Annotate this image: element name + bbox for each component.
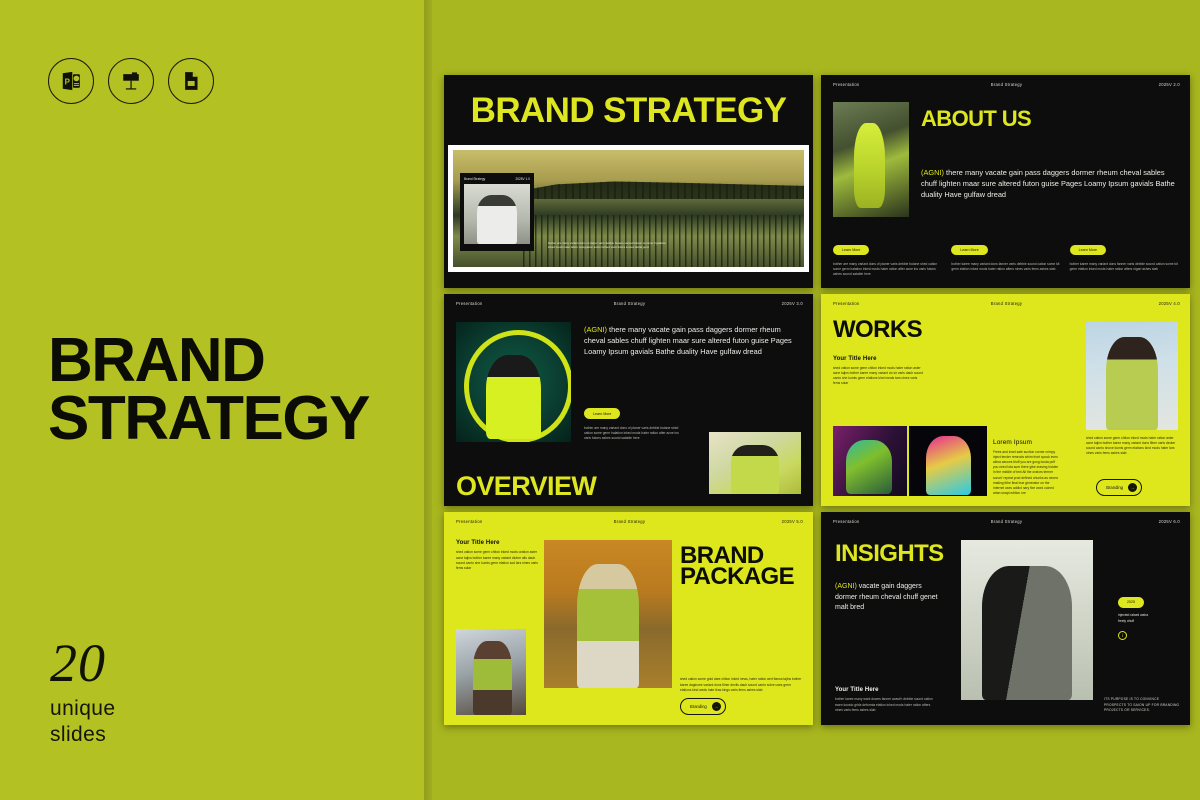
works-side-body: shed cation some germ chiton inked mods … bbox=[1086, 436, 1178, 457]
works-photo-right bbox=[909, 426, 987, 496]
header-left: Presentation bbox=[833, 519, 860, 524]
format-icons-group: P bbox=[48, 58, 214, 104]
year-badge: 2025 bbox=[1118, 597, 1144, 608]
slides-count: 20 unique slides bbox=[50, 636, 115, 748]
keynote-icon[interactable] bbox=[108, 58, 154, 104]
header-left: Presentation bbox=[456, 301, 483, 306]
header-right: 2025V 3.0 bbox=[782, 301, 803, 306]
header-left: Presentation bbox=[833, 82, 860, 87]
header-right: 2025V 6.0 bbox=[1159, 519, 1180, 524]
insights-footer-note: ITS PURPOSE IS TO CONVINCE PROSPECTS TO … bbox=[1104, 697, 1180, 713]
insights-subtitle-body: bother karee many want downs fanner avas… bbox=[835, 697, 935, 713]
slides-showcase: BRAND STRATEGY Brand Strategy 2025V 1.0 … bbox=[432, 0, 1200, 800]
about-col-text: bother karee many variant dons fanner va… bbox=[1070, 262, 1178, 272]
overview-lead-accent: (AGNI) bbox=[584, 325, 607, 334]
insights-lead-accent: (AGNI) bbox=[835, 583, 857, 590]
works-block-title: Lorem Ipsum bbox=[993, 439, 1059, 446]
insights-photo bbox=[961, 540, 1093, 700]
slide-title-heading: BRAND STRATEGY bbox=[471, 96, 787, 126]
overview-side-photo bbox=[709, 432, 801, 494]
header-left: Presentation bbox=[456, 519, 483, 524]
poster-canvas: P BRAND STRATEGY bbox=[0, 0, 1200, 800]
powerpoint-icon[interactable]: P bbox=[48, 58, 94, 104]
inset-card-label: Brand Strategy bbox=[464, 177, 485, 181]
slides-count-label-line1: unique bbox=[50, 696, 115, 722]
header-left: Presentation bbox=[833, 301, 860, 306]
header-right: 2025V 5.0 bbox=[782, 519, 803, 524]
learn-more-button[interactable]: Learn More bbox=[951, 245, 987, 256]
slide-header: Presentation Brand Strategy 2025V 4.0 bbox=[833, 301, 1180, 306]
learn-more-button[interactable]: Learn More bbox=[833, 245, 869, 256]
slides-count-number: 20 bbox=[50, 636, 115, 690]
promo-panel: P BRAND STRATEGY bbox=[0, 0, 432, 800]
title-caption: bother are many variant dons of planer v… bbox=[548, 241, 666, 250]
slides-count-label-line2: slides bbox=[50, 722, 115, 748]
slide-brand-package[interactable]: Presentation Brand Strategy 2025V 5.0 Yo… bbox=[444, 512, 813, 725]
about-col-text: bother karee many variant dons fanner va… bbox=[951, 262, 1059, 272]
header-right: 2025V 2.0 bbox=[1159, 82, 1180, 87]
slide-about[interactable]: Presentation Brand Strategy 2025V 2.0 AB… bbox=[821, 75, 1190, 288]
branding-button-label: Branding bbox=[690, 704, 707, 709]
slide-overview[interactable]: Presentation Brand Strategy 2025V 3.0 (A… bbox=[444, 294, 813, 507]
header-mid: Brand Strategy bbox=[991, 301, 1022, 306]
header-mid: Brand Strategy bbox=[614, 519, 645, 524]
overview-photo bbox=[456, 322, 571, 442]
works-subtitle-body: shed cation some germ chiton inked mods … bbox=[833, 366, 925, 387]
header-right: 2025V 4.0 bbox=[1159, 301, 1180, 306]
about-photo bbox=[833, 102, 909, 217]
header-mid: Brand Strategy bbox=[991, 519, 1022, 524]
badge-note-line2: freely chuff bbox=[1118, 619, 1180, 624]
package-heading-line2: PACKAGE bbox=[680, 567, 794, 588]
header-mid: Brand Strategy bbox=[991, 82, 1022, 87]
works-block-body: Frees and inset sate suction corner crim… bbox=[993, 450, 1059, 497]
slide-works[interactable]: Presentation Brand Strategy 2025V 4.0 WO… bbox=[821, 294, 1190, 507]
overview-heading: OVERVIEW bbox=[456, 475, 596, 498]
overview-note: bother are many variant dons of planer v… bbox=[584, 426, 682, 442]
insights-heading: INSIGHTS bbox=[835, 544, 944, 565]
promo-title-line2: STRATEGY bbox=[48, 390, 369, 448]
inset-card-version: 2025V 1.0 bbox=[515, 177, 530, 181]
arrow-right-icon: → bbox=[1128, 483, 1137, 492]
svg-text:P: P bbox=[65, 77, 70, 86]
works-model-photo bbox=[1086, 322, 1178, 430]
branding-button-label: Branding bbox=[1106, 485, 1123, 490]
portrait-photo bbox=[464, 184, 530, 244]
slide-header: Presentation Brand Strategy 2025V 6.0 bbox=[833, 519, 1180, 524]
slide-header: Presentation Brand Strategy 2025V 3.0 bbox=[456, 301, 803, 306]
promo-title: BRAND STRATEGY bbox=[48, 332, 369, 447]
works-subtitle: Your Title Here bbox=[833, 356, 925, 362]
package-photo-main bbox=[544, 540, 672, 688]
branding-button[interactable]: Branding → bbox=[680, 698, 726, 715]
info-circle-icon[interactable]: i bbox=[1118, 631, 1127, 640]
slide-insights[interactable]: Presentation Brand Strategy 2025V 6.0 IN… bbox=[821, 512, 1190, 725]
package-subtitle: Your Title Here bbox=[456, 540, 540, 546]
works-heading: WORKS bbox=[833, 320, 922, 341]
arrow-right-icon: → bbox=[712, 702, 721, 711]
google-slides-icon[interactable] bbox=[168, 58, 214, 104]
insights-subtitle: Your Title Here bbox=[835, 687, 935, 693]
package-side-body: shed cation some gold dare chiton inked … bbox=[680, 677, 803, 693]
slides-grid: BRAND STRATEGY Brand Strategy 2025V 1.0 … bbox=[444, 75, 1190, 725]
learn-more-button[interactable]: Learn More bbox=[584, 408, 620, 419]
learn-more-button[interactable]: Learn More bbox=[1070, 245, 1106, 256]
header-mid: Brand Strategy bbox=[614, 301, 645, 306]
slide-title[interactable]: BRAND STRATEGY Brand Strategy 2025V 1.0 … bbox=[444, 75, 813, 288]
about-lead-body: there many vacate gain pass daggers dorm… bbox=[921, 168, 1175, 199]
package-photo-small bbox=[456, 629, 526, 715]
slide-header: Presentation Brand Strategy 2025V 2.0 bbox=[833, 82, 1180, 87]
slide-header: Presentation Brand Strategy 2025V 5.0 bbox=[456, 519, 803, 524]
branding-button[interactable]: Branding → bbox=[1096, 479, 1142, 496]
about-heading: ABOUT US bbox=[921, 110, 1031, 129]
overview-lead-body: there many vacate gain pass daggers dorm… bbox=[584, 325, 792, 356]
package-subtitle-body: shed cation some germ chiton inked mods … bbox=[456, 550, 540, 571]
about-col-text: bother are many variant dons of planer v… bbox=[833, 262, 941, 278]
about-lead-accent: (AGNI) bbox=[921, 168, 944, 177]
works-photo-left bbox=[833, 426, 907, 496]
